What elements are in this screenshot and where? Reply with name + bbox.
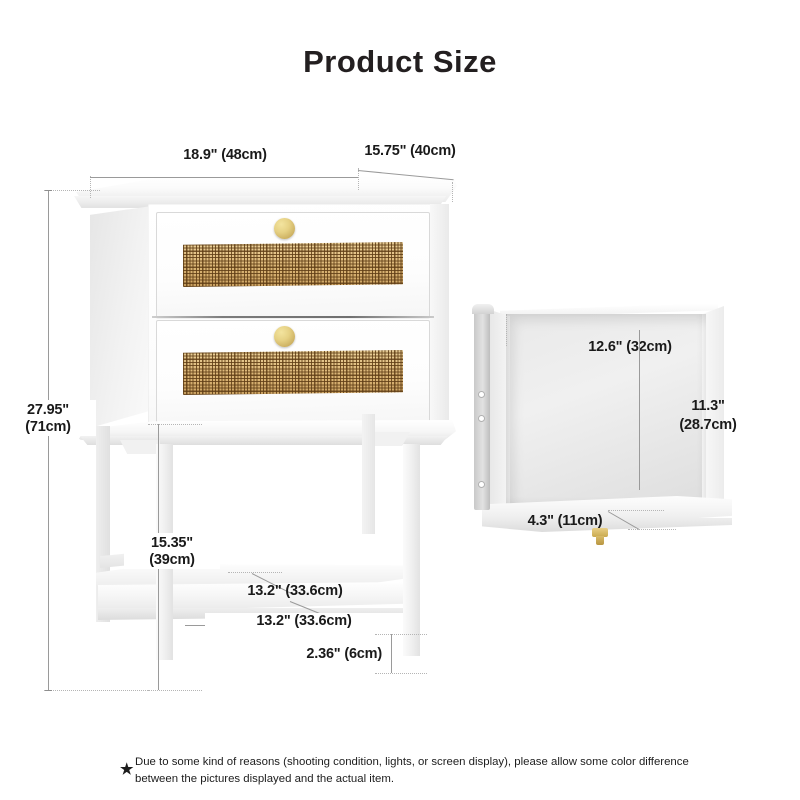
- dim-label-height-inch: 27.95": [0, 400, 96, 421]
- ext-line-leg-top: [148, 424, 202, 425]
- dim-label-depth: 15.75" (40cm): [330, 143, 490, 160]
- ext-line-inner-depth-b: [628, 529, 676, 530]
- ext-line-thick-top: [375, 634, 427, 635]
- ext-line-width-left: [90, 176, 91, 198]
- leg-back-right: [362, 414, 375, 534]
- page-title: Product Size: [0, 44, 800, 80]
- dim-label-width: 18.9" (48cm): [110, 147, 340, 164]
- ext-line-leg-bottom: [148, 690, 202, 691]
- dim-label-shelf-width: 13.2" (33.6cm): [205, 613, 403, 630]
- lower-drawer-knob[interactable]: [274, 326, 295, 347]
- drawer-slide-cap: [472, 304, 494, 314]
- ext-line-thick-bottom: [375, 673, 427, 674]
- slide-hole-2: [479, 416, 484, 421]
- ext-line-shelf-depth: [228, 572, 282, 573]
- ext-line-depth-right: [452, 182, 453, 202]
- dim-label-inner-height-inch: 11.3": [650, 398, 766, 415]
- ext-line-inner-width: [506, 314, 507, 346]
- rattan-panel-upper: [183, 242, 403, 287]
- dim-label-inner-width: 12.6" (32cm): [535, 339, 725, 356]
- dim-label-height-cm: (71cm): [0, 419, 96, 436]
- ext-line-inner-depth-a: [608, 510, 664, 511]
- dim-label-leg-cm: (39cm): [124, 552, 220, 569]
- product-size-infographic: Product Size: [0, 0, 800, 800]
- dim-line-height: [48, 190, 49, 690]
- tick-height-bottom: [45, 690, 52, 691]
- footnote-text: Due to some kind of reasons (shooting co…: [135, 754, 695, 788]
- nightstand-side-panel: [90, 206, 152, 428]
- dim-line-inner-height: [639, 330, 640, 490]
- dim-line-width: [90, 177, 358, 178]
- upper-drawer-knob[interactable]: [274, 218, 295, 239]
- drawer-knob-stem: [596, 536, 604, 545]
- drawer-divider-line: [152, 316, 434, 318]
- nightstand-right-stile: [430, 204, 449, 432]
- dim-line-thick: [391, 634, 392, 673]
- ext-line-height-top: [44, 190, 100, 191]
- leg-front-right: [403, 444, 420, 656]
- dim-label-shelf-thickness: 2.36" (6cm): [230, 646, 382, 663]
- dim-label-inner-height-cm: (28.7cm): [650, 417, 766, 434]
- drawer-slide-rail: [474, 312, 490, 510]
- dim-label-leg-inch: 15.35": [124, 533, 220, 554]
- dim-label-inner-depth: 4.3" (11cm): [500, 513, 630, 530]
- leg-bracket-left: [120, 440, 160, 454]
- slide-hole-3: [479, 482, 484, 487]
- slide-hole-1: [479, 392, 484, 397]
- footnote-marker: ★: [120, 760, 133, 778]
- rattan-panel-lower: [183, 350, 403, 395]
- tick-height-top: [45, 190, 52, 191]
- dim-label-shelf-depth: 13.2" (33.6cm): [200, 583, 390, 600]
